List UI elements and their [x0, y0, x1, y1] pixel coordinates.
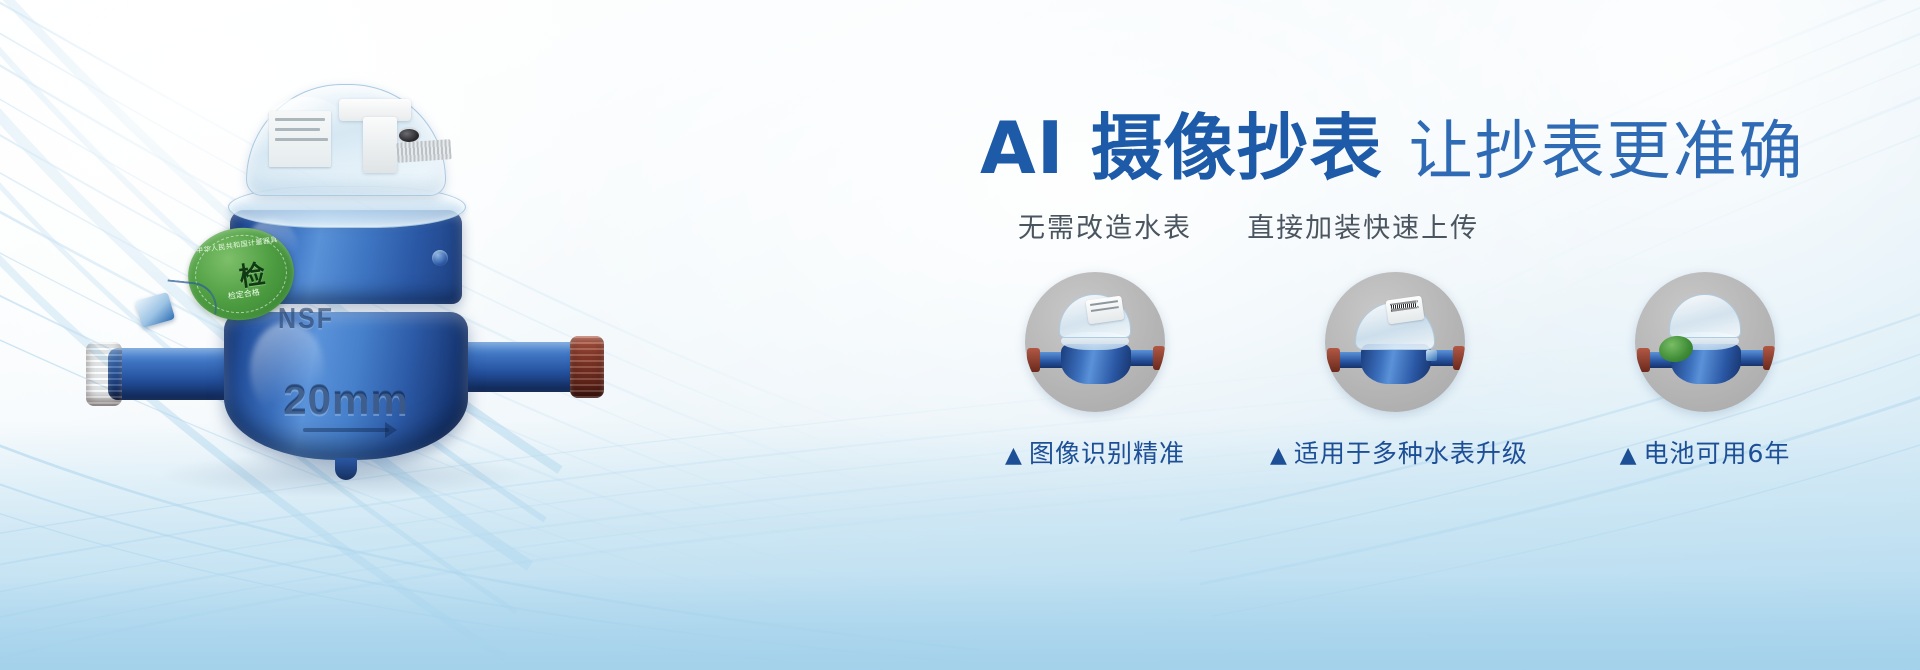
triangle-marker-icon: ▲ [1270, 443, 1288, 468]
feature-label-2: ▲适用于多种水表升级 [1270, 434, 1520, 470]
mini-label-tag [1086, 296, 1125, 325]
feature-label-text-1: 图像识别精准 [1029, 439, 1185, 468]
product-brand-marking: NSF [278, 302, 418, 337]
mini-cap-left [1027, 348, 1040, 372]
mini-cap-left [1327, 348, 1340, 372]
triangle-marker-icon: ▲ [1620, 443, 1638, 468]
feature-thumbnail-2 [1325, 272, 1465, 412]
triangle-marker-icon: ▲ [1005, 443, 1023, 468]
camera-module-body [363, 117, 397, 173]
mini-body [1061, 344, 1131, 384]
feature-label-text-3: 电池可用6年 [1644, 439, 1791, 468]
mini-cap-right [1453, 346, 1465, 370]
product-bottom-nub [335, 458, 357, 480]
product-pipe-cap-left [86, 342, 122, 406]
product-size-marking: 20mm [224, 376, 468, 424]
subtitle: 无需改造水表 直接加装快速上传 [1018, 206, 1898, 245]
feature-label-1: ▲图像识别精准 [970, 434, 1220, 470]
feature-item-2: ▲适用于多种水表升级 [1270, 272, 1520, 470]
feature-thumbnail-1 [1025, 272, 1165, 412]
subtitle-right: 直接加装快速上传 [1247, 213, 1479, 244]
banner-content: AI 摄像抄表 让抄表更准确 无需改造水表 直接加装快速上传 [980, 0, 1920, 670]
product-bolt-icon [432, 250, 448, 266]
mini-meter-graphic-1 [1025, 272, 1165, 412]
mini-body [1361, 344, 1431, 384]
hero-product-image: 20mm NSF 中华人民共和国计量器具 检 检定合格 [78, 60, 598, 540]
mini-dome [1669, 294, 1741, 338]
feature-label-3: ▲电池可用6年 [1580, 434, 1830, 470]
product-pipe-right [460, 342, 580, 392]
promo-banner: 20mm NSF 中华人民共和国计量器具 检 检定合格 [0, 0, 1920, 670]
headline-primary: AI 摄像抄表 [980, 112, 1383, 184]
flow-direction-arrow-icon [303, 428, 389, 432]
mini-blue-connector [1426, 350, 1437, 361]
headline-secondary: 让抄表更准确 [1409, 120, 1805, 184]
mini-meter-graphic-3 [1635, 272, 1775, 412]
feature-thumbnail-3 [1635, 272, 1775, 412]
mini-cap-right [1763, 346, 1775, 370]
feature-item-3: ▲电池可用6年 [1580, 272, 1830, 470]
feature-thumbnail-row: ▲图像识别精准 [810, 272, 1910, 452]
feature-item-1: ▲图像识别精准 [970, 272, 1220, 470]
mini-meter-graphic-2 [1325, 272, 1465, 412]
feature-label-text-2: 适用于多种水表升级 [1294, 439, 1528, 468]
product-pipe-left [108, 348, 234, 400]
product-spec-label [269, 111, 331, 167]
product-pipe-cap-right [570, 336, 604, 398]
mini-cap-left [1637, 348, 1650, 372]
headline: AI 摄像抄表 让抄表更准确 [980, 112, 1880, 184]
seal-lead-tag [135, 292, 175, 328]
subtitle-left: 无需改造水表 [1018, 213, 1192, 244]
product-camera-dome [246, 84, 446, 196]
ribbon-cable [396, 139, 451, 163]
camera-lens-icon [399, 129, 419, 142]
mini-cap-right [1153, 346, 1165, 370]
